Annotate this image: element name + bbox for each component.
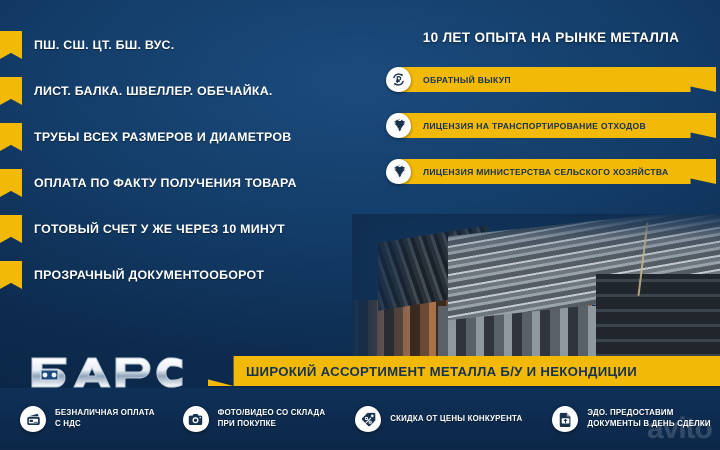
list-item: ПШ. СШ. ЦТ. БШ. ВУС. [0,22,380,68]
double-headed-eagle-icon [386,159,411,184]
left-feature-label: ТРУБЫ ВСЕХ РАЗМЕРОВ И ДИАМЕТРОВ [34,130,291,144]
headline: 10 ЛЕТ ОПЫТА НА РЫНКЕ МЕТАЛЛА [386,30,716,45]
left-feature-label: ОПЛАТА ПО ФАКТУ ПОЛУЧЕНИЯ ТОВАРА [34,176,297,190]
bottom-feature-line2: ПРИ ПОКУПКЕ [218,419,326,430]
list-item: ЛИСТ. БАЛКА. ШВЕЛЛЕР. ОБЕЧАЙКА. [0,68,380,114]
list-item: ГОТОВЫЙ СЧЕТ У ЖЕ ЧЕРЕЗ 10 МИНУТ [0,206,380,252]
bottom-feature-text: СКИДКА ОТ ЦЕНЫ КОНКУРЕНТА [390,414,522,425]
assortment-banner: ШИРОКИЙ АССОРТИМЕНТ МЕТАЛЛА Б/У И НЕКОНД… [208,356,720,386]
badge-waste-transport-licence: ЛИЦЕНЗИЯ НА ТРАНСПОРТИРОВАНИЕ ОТХОДОВ [386,113,716,138]
left-feature-list: ПШ. СШ. ЦТ. БШ. ВУС. ЛИСТ. БАЛКА. ШВЕЛЛЕ… [0,22,380,298]
ribbon-marker-icon [0,261,22,289]
price-tag-icon [355,406,381,432]
bottom-feature-text: ЭДО. ПРЕДОСТАВИМ ДОКУМЕНТЫ В ДЕНЬ СДЕЛКИ [587,408,710,429]
ruble-refresh-icon [386,67,411,92]
bottom-feature-line1: СКИДКА ОТ ЦЕНЫ КОНКУРЕНТА [390,414,522,425]
bottom-feature-strip: БЕЗНАЛИЧНАЯ ОПЛАТА С НДС ФОТО/ВИДЕО СО С… [0,388,720,450]
document-upload-icon [552,406,578,432]
ribbon-marker-icon [0,123,22,151]
logo-flange-detail [41,370,58,380]
badge-label: ЛИЦЕНЗИЯ МИНИСТЕРСТВА СЕЛЬСКОГО ХОЗЯЙСТВ… [423,167,669,177]
left-feature-label: ПРОЗРАЧНЫЙ ДОКУМЕНТООБОРОТ [34,268,264,282]
bottom-feature-cashless-payment: БЕЗНАЛИЧНАЯ ОПЛАТА С НДС [20,406,155,432]
bottom-feature-edo-documents: ЭДО. ПРЕДОСТАВИМ ДОКУМЕНТЫ В ДЕНЬ СДЕЛКИ [552,406,710,432]
list-item: ТРУБЫ ВСЕХ РАЗМЕРОВ И ДИАМЕТРОВ [0,114,380,160]
badge-buyback: ОБРАТНЫЙ ВЫКУП [386,67,716,92]
left-feature-label: ЛИСТ. БАЛКА. ШВЕЛЛЕР. ОБЕЧАЙКА. [34,84,273,98]
right-column: 10 ЛЕТ ОПЫТА НА РЫНКЕ МЕТАЛЛА [386,30,716,205]
assortment-banner-label: ШИРОКИЙ АССОРТИМЕНТ МЕТАЛЛА Б/У И НЕКОНД… [246,364,637,379]
bottom-feature-line1: ФОТО/ВИДЕО СО СКЛАДА [218,408,326,419]
badge-label: ОБРАТНЫЙ ВЫКУП [423,75,511,85]
wallet-card-icon [20,406,46,432]
badge-agriculture-licence: ЛИЦЕНЗИЯ МИНИСТЕРСТВА СЕЛЬСКОГО ХОЗЯЙСТВ… [386,159,716,184]
left-feature-label: ПШ. СШ. ЦТ. БШ. ВУС. [34,38,174,52]
company-logo: БАРС [22,348,192,392]
camera-icon [183,406,209,432]
list-item: ОПЛАТА ПО ФАКТУ ПОЛУЧЕНИЯ ТОВАРА [0,160,380,206]
ribbon-marker-icon [0,169,22,197]
bottom-feature-line1: ЭДО. ПРЕДОСТАВИМ [587,408,710,419]
badge-label: ЛИЦЕНЗИЯ НА ТРАНСПОРТИРОВАНИЕ ОТХОДОВ [423,121,646,131]
ribbon-marker-icon [0,215,22,243]
list-item: ПРОЗРАЧНЫЙ ДОКУМЕНТООБОРОТ [0,252,380,298]
left-feature-label: ГОТОВЫЙ СЧЕТ У ЖЕ ЧЕРЕЗ 10 МИНУТ [34,222,285,236]
bottom-feature-line2: ДОКУМЕНТЫ В ДЕНЬ СДЕЛКИ [587,419,710,430]
ribbon-marker-icon [0,31,22,59]
double-headed-eagle-icon [386,113,411,138]
advertisement-poster: ПШ. СШ. ЦТ. БШ. ВУС. ЛИСТ. БАЛКА. ШВЕЛЛЕ… [0,0,720,450]
ribbon-marker-icon [0,77,22,105]
bottom-feature-photo-video: ФОТО/ВИДЕО СО СКЛАДА ПРИ ПОКУПКЕ [183,406,326,432]
bottom-feature-competitor-discount: СКИДКА ОТ ЦЕНЫ КОНКУРЕНТА [355,406,522,432]
bottom-feature-line1: БЕЗНАЛИЧНАЯ ОПЛАТА [55,408,155,419]
bottom-feature-text: БЕЗНАЛИЧНАЯ ОПЛАТА С НДС [55,408,155,429]
bottom-feature-line2: С НДС [55,419,155,430]
bottom-feature-text: ФОТО/ВИДЕО СО СКЛАДА ПРИ ПОКУПКЕ [218,408,326,429]
